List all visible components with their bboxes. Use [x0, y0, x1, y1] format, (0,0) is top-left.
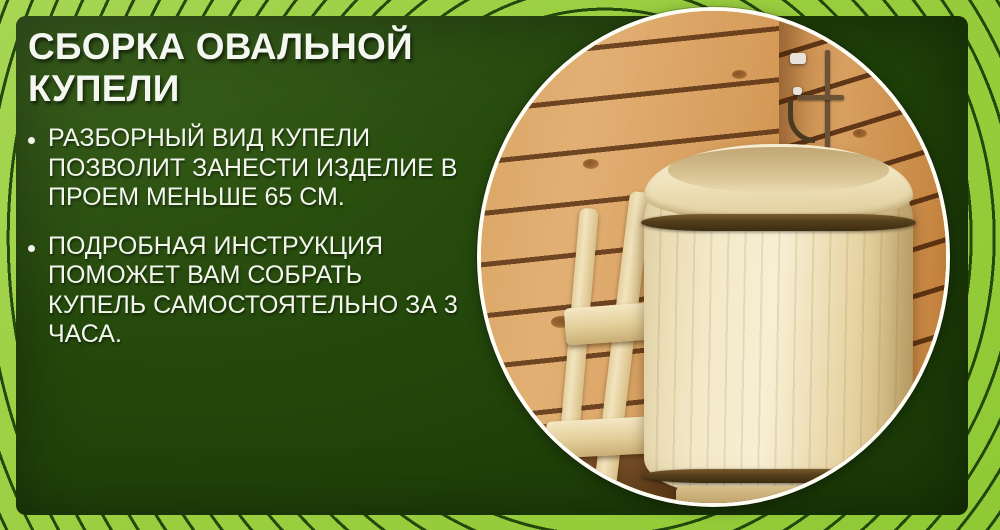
bullet-dot-icon — [28, 245, 35, 252]
shower-head-icon — [790, 53, 806, 64]
promo-slide: СБОРКА ОВАЛЬНОЙ КУПЕЛИ РАЗБОРНЫЙ ВИД КУП… — [0, 0, 1000, 530]
list-item: ПОДРОБНАЯ ИНСТРУКЦИЯ ПОМОЖЕТ ВАМ СОБРАТЬ… — [28, 232, 458, 349]
list-item-text: РАЗБОРНЫЙ ВИД КУПЕЛИ ПОЗВОЛИТ ЗАНЕСТИ ИЗ… — [48, 124, 457, 211]
list-item-text: ПОДРОБНАЯ ИНСТРУКЦИЯ ПОМОЖЕТ ВАМ СОБРАТЬ… — [48, 232, 458, 348]
tub-metal-hoop-top — [641, 214, 916, 231]
tub-base-support — [676, 486, 881, 503]
product-photo-image — [481, 11, 946, 503]
bullet-dot-icon — [28, 137, 35, 144]
tap-valve-icon — [793, 87, 802, 95]
wood-knot-icon — [853, 129, 867, 138]
wood-knot-icon — [583, 159, 599, 169]
product-photo-circle — [477, 7, 950, 507]
ladder-step-lower — [546, 416, 655, 459]
tub-interior-shadow — [668, 147, 889, 192]
text-column: СБОРКА ОВАЛЬНОЙ КУПЕЛИ РАЗБОРНЫЙ ВИД КУП… — [28, 26, 458, 349]
list-item: РАЗБОРНЫЙ ВИД КУПЕЛИ ПОЗВОЛИТ ЗАНЕСТИ ИЗ… — [28, 124, 458, 212]
bullet-list: РАЗБОРНЫЙ ВИД КУПЕЛИ ПОЗВОЛИТ ЗАНЕСТИ ИЗ… — [28, 124, 458, 349]
tub-metal-hoop-bottom — [641, 469, 916, 483]
tap-horizontal-arm — [797, 95, 844, 100]
oval-wooden-tub — [644, 144, 914, 493]
page-title: СБОРКА ОВАЛЬНОЙ КУПЕЛИ — [28, 26, 458, 110]
